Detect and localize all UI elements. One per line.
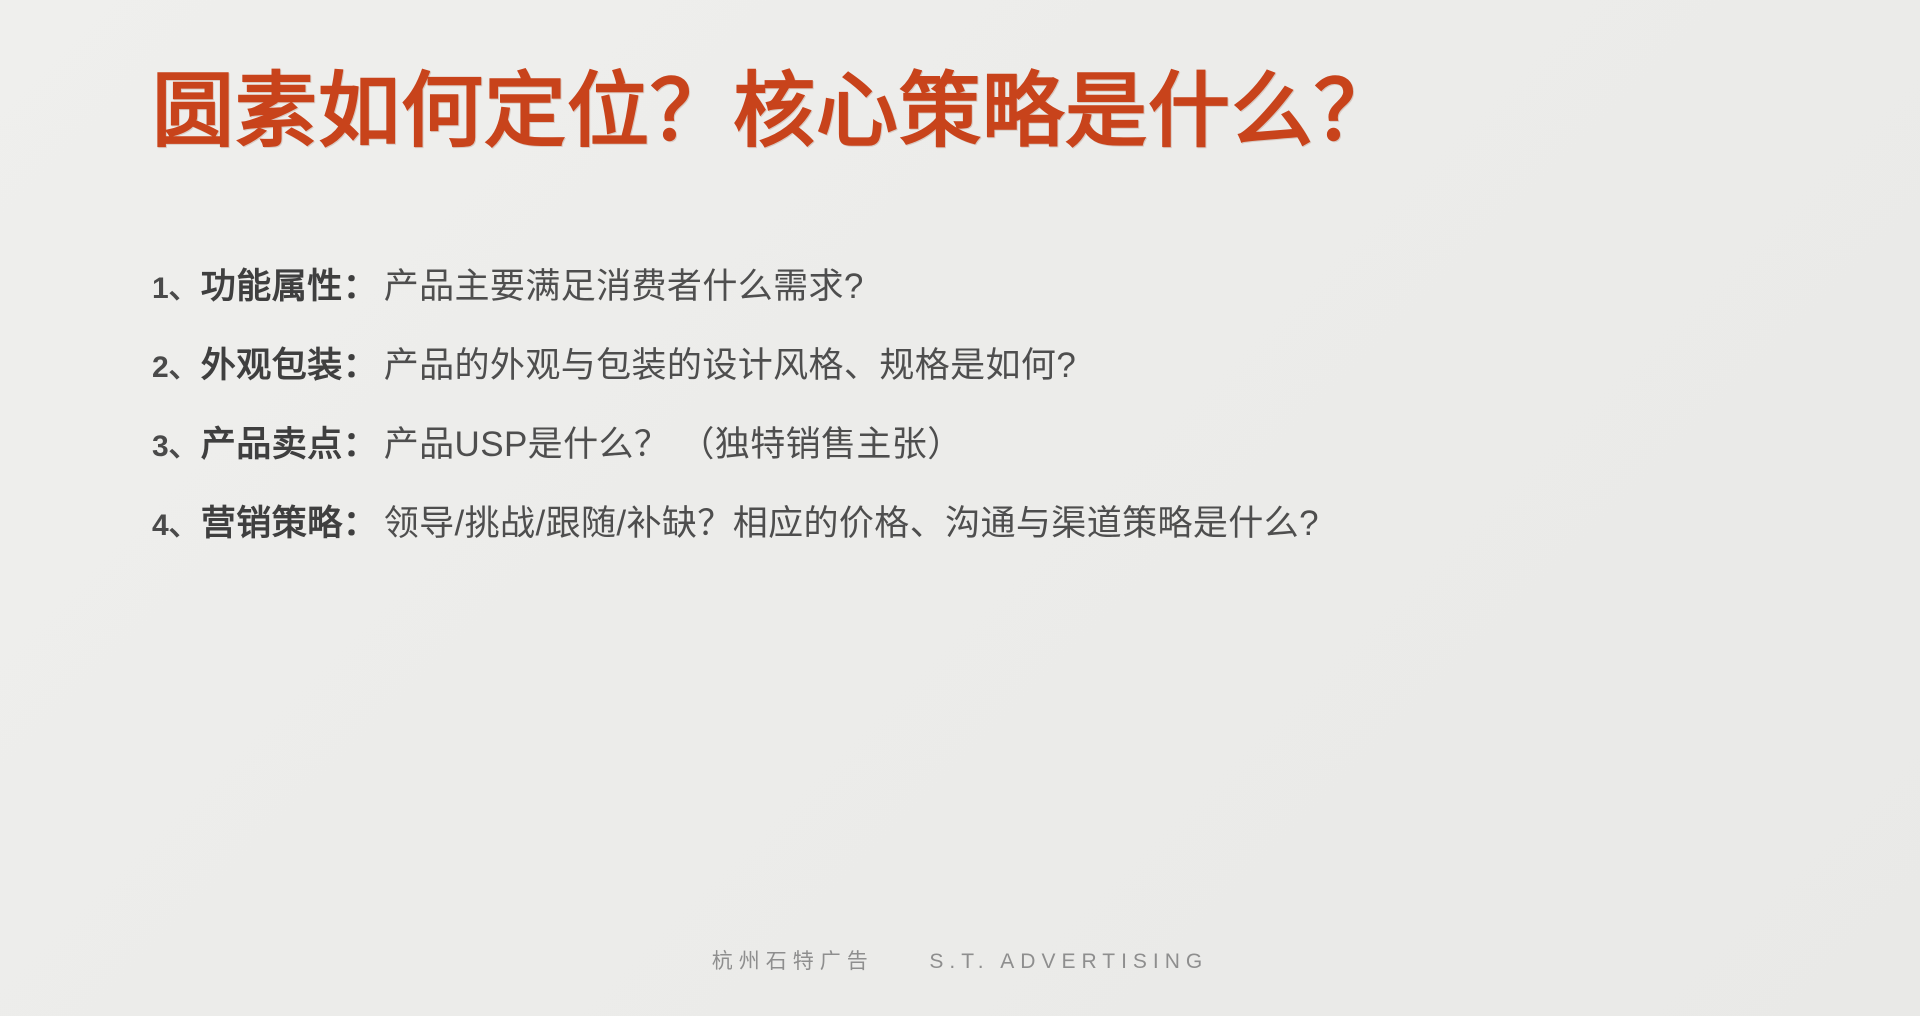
list-item-number: 2、 [152,342,201,386]
list-item-separator: ： [343,416,384,467]
list-item-separator: ： [343,495,384,546]
list-item: 3、 产品卖点 ： 产品USP是什么？ （独特销售主张） [152,416,1852,467]
list-item: 2、 外观包装 ： 产品的外观与包装的设计风格、规格是如何? [152,337,1852,388]
footer-company-cn: 杭州石特广告 [712,950,874,973]
list-item-text: 领导/挑战/跟随/补缺？相应的价格、沟通与渠道策略是什么? [384,495,1319,546]
bullet-list: 1、 功能属性 ： 产品主要满足消费者什么需求? 2、 外观包装 ： 产品的外观… [152,258,1852,574]
list-item: 4、 营销策略 ： 领导/挑战/跟随/补缺？相应的价格、沟通与渠道策略是什么? [152,495,1852,546]
list-item-number: 1、 [152,263,201,307]
list-item-text: 产品的外观与包装的设计风格、规格是如何? [384,337,1076,388]
list-item-text: 产品USP是什么？ （独特销售主张） [384,416,963,467]
list-item-number: 4、 [152,500,201,544]
list-item-label: 产品卖点 [201,416,343,467]
list-item-text: 产品主要满足消费者什么需求? [384,258,864,309]
footer: 杭州石特广告 S.T. ADVERTISING [0,945,1920,975]
list-item-separator: ： [343,258,384,309]
page-title: 圆素如何定位？核心策略是什么？ [152,68,1772,157]
list-item-label: 功能属性 [201,258,343,309]
list-item: 1、 功能属性 ： 产品主要满足消费者什么需求? [152,258,1852,309]
list-item-label: 营销策略 [201,495,343,546]
list-item-label: 外观包装 [201,337,343,388]
slide-canvas: 圆素如何定位？核心策略是什么？ 1、 功能属性 ： 产品主要满足消费者什么需求?… [0,0,1920,1016]
footer-company-en: S.T. ADVERTISING [929,950,1208,973]
list-item-separator: ： [343,337,384,388]
list-item-number: 3、 [152,421,201,465]
